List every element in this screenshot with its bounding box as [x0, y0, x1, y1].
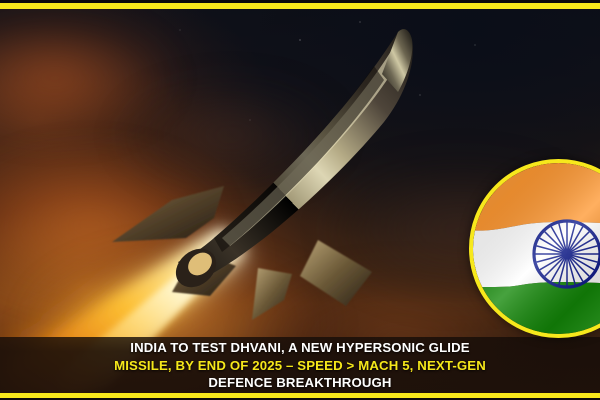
missile-fin-lower-right [252, 268, 292, 320]
caption-band: INDIA TO TEST DHVANI, A NEW HYPERSONIC G… [0, 337, 600, 393]
missile-underside [214, 66, 384, 252]
top-accent-rule [0, 3, 600, 9]
caption-line-2: MISSILE, BY END OF 2025 – SPEED > MACH 5… [114, 357, 486, 375]
missile-body [178, 29, 413, 282]
india-flag [473, 163, 600, 334]
caption-line-3: DEFENCE BREAKTHROUGH [208, 374, 391, 392]
flag-wave-shading [473, 163, 600, 334]
missile-wing-left [112, 186, 224, 242]
news-graphic: INDIA TO TEST DHVANI, A NEW HYPERSONIC G… [0, 0, 600, 400]
caption-line-1: INDIA TO TEST DHVANI, A NEW HYPERSONIC G… [130, 339, 469, 357]
india-flag-svg [473, 163, 600, 334]
missile-fin-right [300, 240, 372, 306]
top-edge-strip [0, 0, 600, 3]
